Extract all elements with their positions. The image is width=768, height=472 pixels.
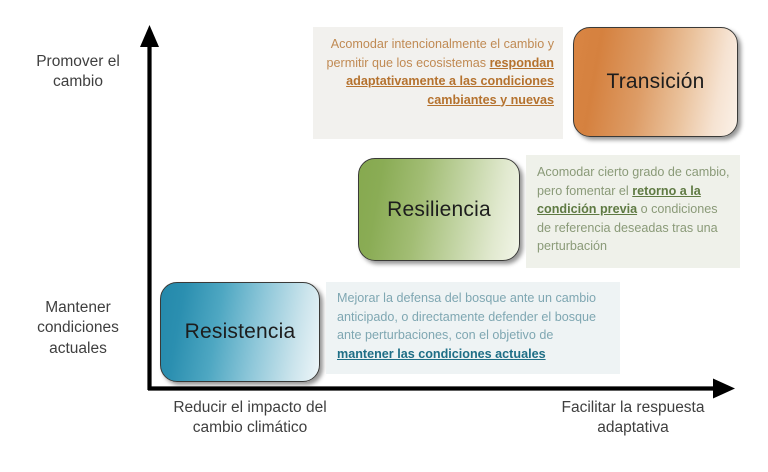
strategy-box-resistencia[interactable]: Resistencia xyxy=(160,282,320,382)
y-axis-top-label: Promover el cambio xyxy=(8,52,148,93)
strategy-box-transicion[interactable]: Transición xyxy=(573,27,738,137)
y-axis-arrowhead xyxy=(140,25,159,47)
x-axis-left-label: Reducir el impacto del cambio climático xyxy=(150,398,350,439)
description-panel-resiliencia: Acomodar cierto grado de cambio, pero fo… xyxy=(526,155,740,268)
y-axis-bottom-label: Mantener condiciones actuales xyxy=(8,298,148,359)
strategy-box-label-transicion: Transición xyxy=(606,70,704,94)
strategy-box-label-resiliencia: Resiliencia xyxy=(387,198,491,222)
description-panel-transicion: Acomodar intencionalmente el cambio y pe… xyxy=(313,27,563,139)
description-panel-resistencia: Mejorar la defensa del bosque ante un ca… xyxy=(326,282,620,374)
strategy-box-label-resistencia: Resistencia xyxy=(185,320,296,344)
description-bold-resistencia: mantener las condiciones actuales xyxy=(337,347,546,361)
adaptation-strategies-diagram: Promover el cambio Mantener condiciones … xyxy=(0,0,768,472)
description-plain-resistencia: Mejorar la defensa del bosque ante un ca… xyxy=(337,291,596,342)
x-axis-right-label: Facilitar la respuesta adaptativa xyxy=(528,398,738,439)
x-axis-arrowhead xyxy=(713,379,735,399)
strategy-box-resiliencia[interactable]: Resiliencia xyxy=(358,158,520,261)
